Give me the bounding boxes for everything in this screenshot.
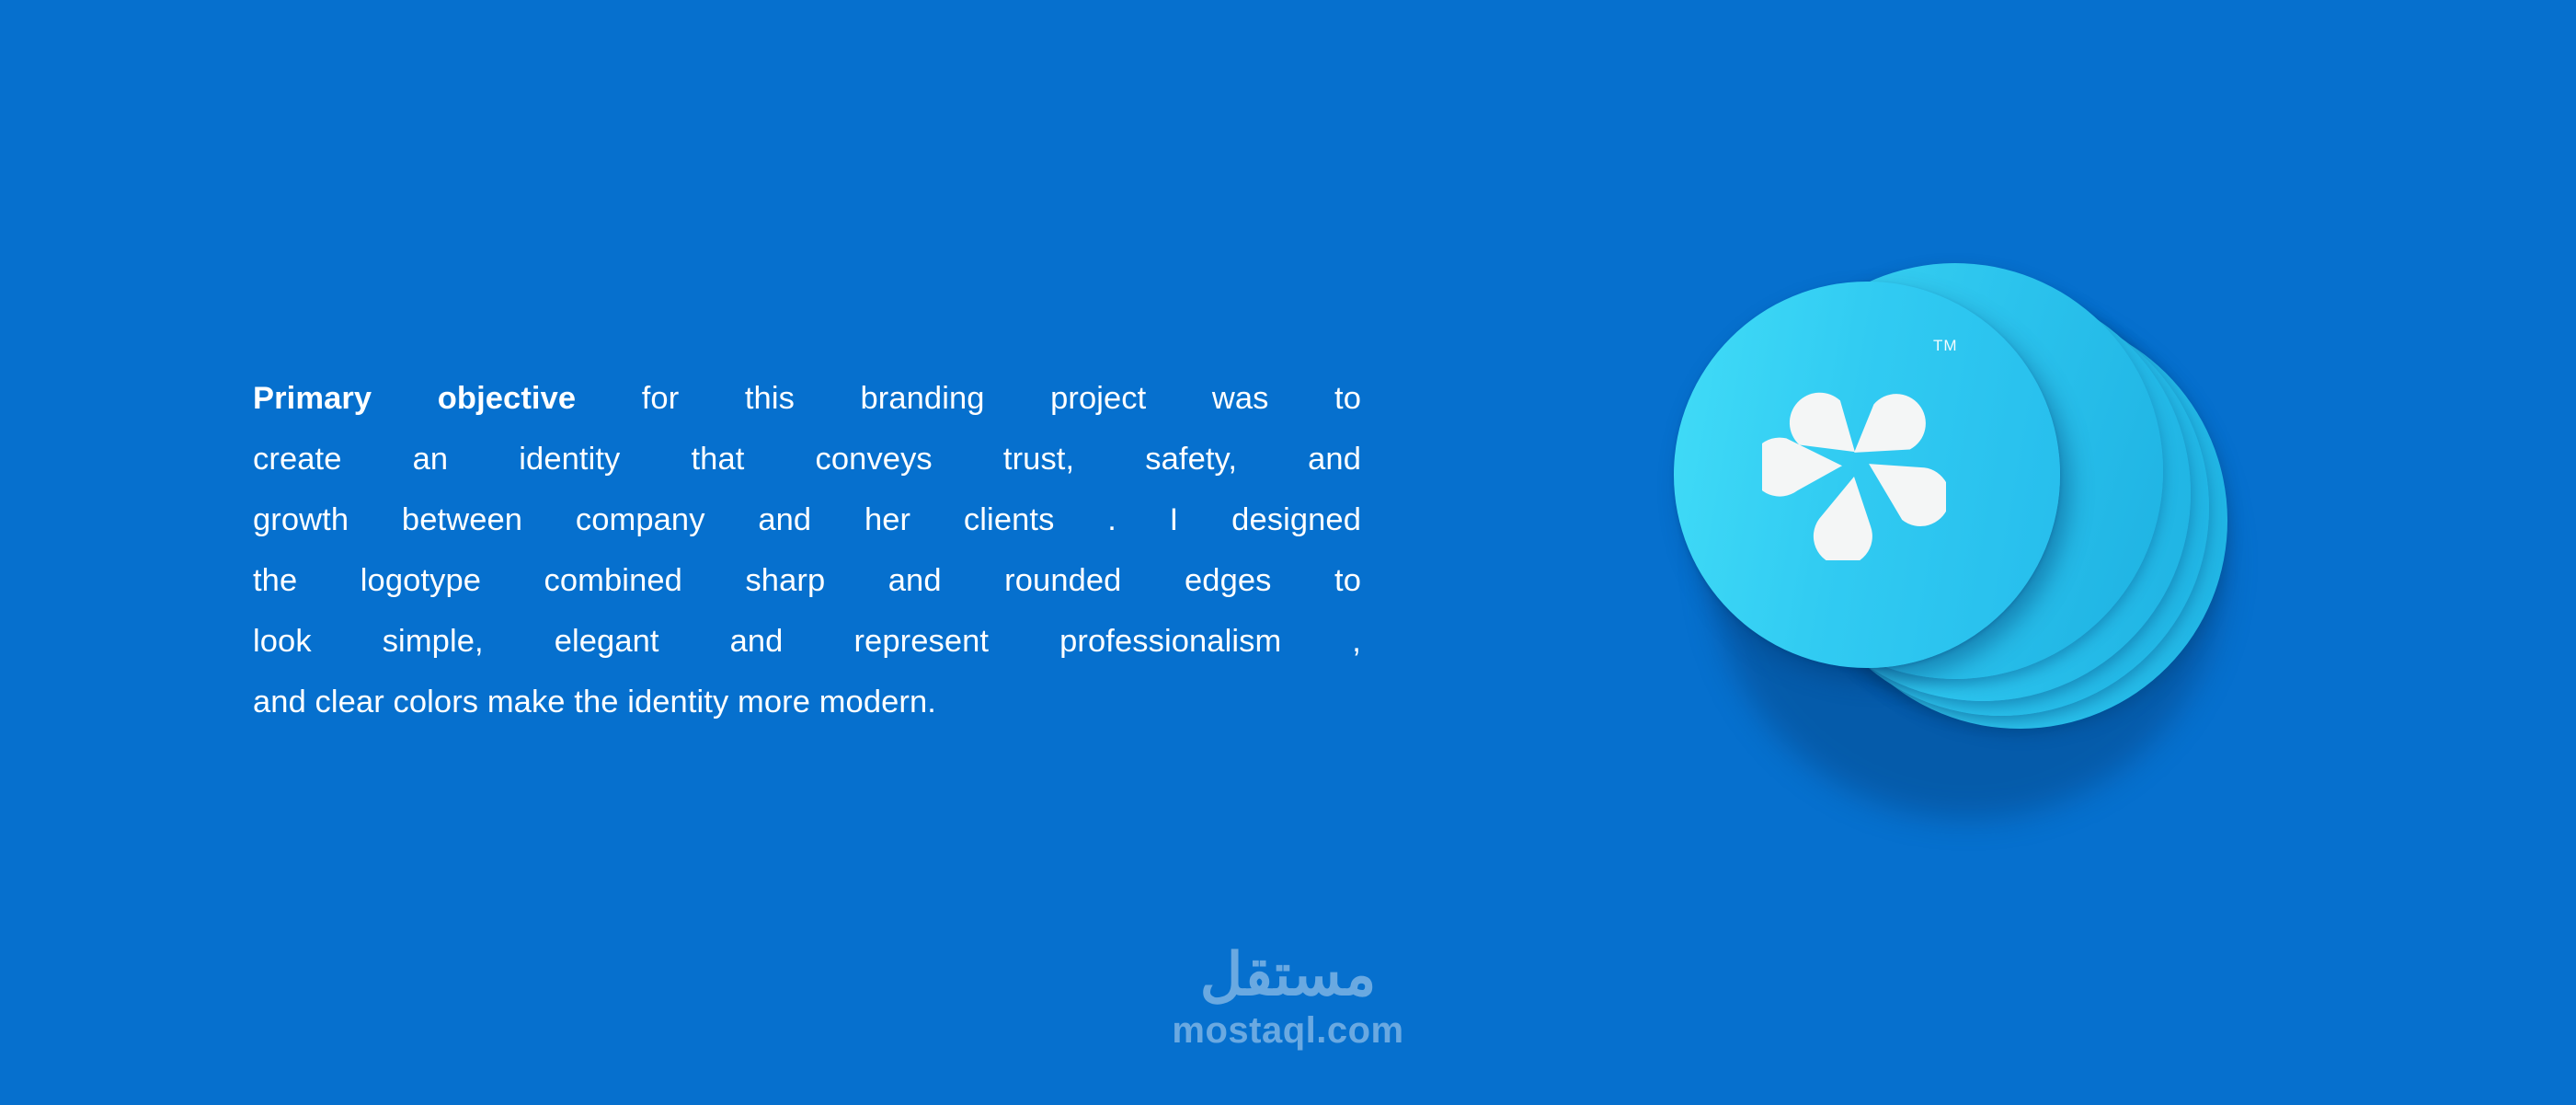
description-line-1: Primary objective for this branding proj… — [253, 368, 1361, 429]
description-line-5: look simple, elegant and represent profe… — [253, 611, 1361, 672]
description-line-3: growth between company and her clients .… — [253, 489, 1361, 550]
coaster-stack-mockup: TM — [1646, 230, 2272, 865]
description-line-1-text: for this branding project was to — [642, 381, 1361, 416]
mostaql-watermark: مستقل mostaql.com — [0, 940, 2576, 1053]
watermark-domain-text: mostaql.com — [0, 1008, 2576, 1053]
flower-petal-top-right — [1854, 386, 1932, 467]
description-line-2: create an identity that conveys trust, s… — [253, 429, 1361, 489]
trademark-mark: TM — [1933, 337, 1958, 355]
flower-petal-right — [1859, 456, 1946, 532]
description-line-6: and clear colors make the identity more … — [253, 672, 1361, 732]
description-lead-phrase: Primary objective — [253, 381, 576, 416]
flower-petal-bottom — [1814, 477, 1872, 560]
watermark-arabic-text: مستقل — [0, 940, 2576, 1008]
five-petal-flower-logo — [1762, 372, 1946, 560]
coaster-disc-top: TM — [1674, 282, 2060, 668]
description-text-block: Primary objective for this branding proj… — [253, 368, 1361, 732]
project-description-paragraph: Primary objective for this branding proj… — [253, 368, 1361, 732]
description-line-4: the logotype combined sharp and rounded … — [253, 550, 1361, 611]
